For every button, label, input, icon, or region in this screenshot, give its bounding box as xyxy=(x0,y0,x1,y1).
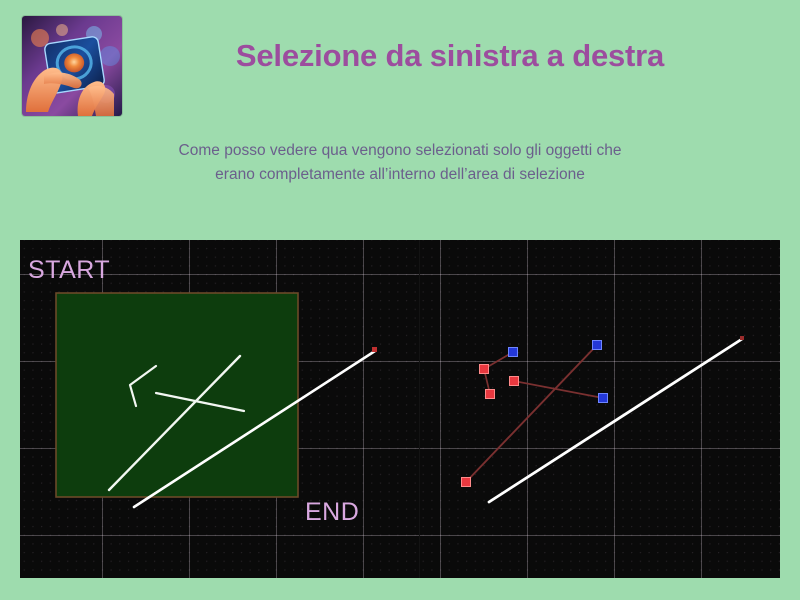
selected-line-shallow-down[interactable] xyxy=(514,381,603,398)
slide-subtitle: Come posso vedere qua vengono selezionat… xyxy=(100,139,700,186)
subtitle-line-1: Come posso vedere qua vengono selezionat… xyxy=(100,139,700,163)
grip-red[interactable] xyxy=(486,390,495,399)
cad-viewport[interactable]: START END xyxy=(20,240,780,578)
grip-blue[interactable] xyxy=(509,348,518,357)
subtitle-line-2: erano completamente all’interno dell’are… xyxy=(100,163,700,187)
label-end: END xyxy=(305,498,359,527)
grip-red[interactable] xyxy=(480,365,489,374)
drag-end-point-marker xyxy=(372,347,377,352)
entity-line-long-diagonal-unselected[interactable] xyxy=(489,339,742,502)
cad-pane-start[interactable]: START END xyxy=(20,240,419,578)
grip-blue[interactable] xyxy=(599,394,608,403)
diagonal-end-point-marker xyxy=(740,336,744,340)
grip-red[interactable] xyxy=(462,478,471,487)
app-thumbnail-icon xyxy=(22,16,122,116)
grip-blue[interactable] xyxy=(593,341,602,350)
cad-geometry-left xyxy=(20,240,419,578)
label-start: START xyxy=(28,256,110,285)
page-title: Selezione da sinistra a destra xyxy=(140,38,760,74)
cad-pane-result[interactable] xyxy=(419,240,780,578)
cad-geometry-right xyxy=(420,240,780,578)
slide-header: Selezione da sinistra a destra Come poss… xyxy=(0,0,800,230)
grip-red[interactable] xyxy=(510,377,519,386)
selection-window-rect xyxy=(56,293,298,497)
